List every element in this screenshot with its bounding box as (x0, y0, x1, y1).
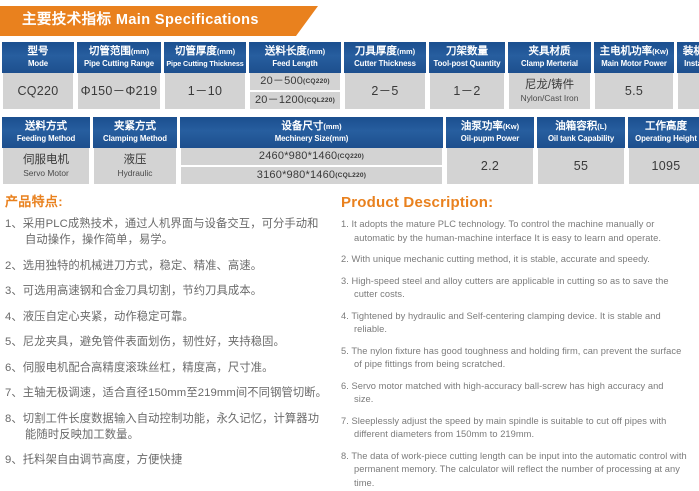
th-operating-height-cn: 工作高度 (629, 120, 699, 133)
cell-main-motor-power: 5.5 (593, 73, 675, 109)
th-clamp-material-cn: 夹具材质 (509, 45, 590, 58)
cell-pipe-cutting-thickness: 1－10 (163, 73, 247, 109)
th-cutter-thickness: 刀具厚度(mm) Cutter Thickness (343, 42, 427, 73)
th-installed-power: 装机功率(Kw) Installed Power (676, 42, 699, 73)
cell-clamp-material-cn: 尼龙/铸件 (510, 78, 589, 93)
feature-line-2: 能随时反映加工数量。 (5, 427, 336, 443)
list-item: 7、主轴无极调速，适合直径150mm至219mm间不同钢管切断。 (5, 385, 336, 401)
th-feed-length: 送料长度(mm) Feed Length (248, 42, 342, 73)
cell-installed-power: 8 (676, 73, 699, 109)
th-model: 型号 Mode (1, 42, 75, 73)
th-feeding-method-cn: 送料方式 (3, 120, 89, 133)
cell-oil-pump-power: 2.2 (445, 148, 535, 184)
cell-feeding-method-cn: 伺服电机 (4, 153, 88, 168)
feature-line-2: permanent memory. The calculator will re… (341, 463, 699, 477)
th-oil-tank-capability-cn: 油箱容积(L) (538, 120, 624, 133)
th-main-motor-power-en: Main Motor Power (595, 58, 673, 69)
feature-line-1: 3. High-speed steel and alloy cutters ar… (341, 276, 669, 286)
cell-machinery-size: 2460*980*1460(CQ220) 3160*980*1460(CQL22… (179, 148, 444, 184)
list-item: 8、切割工件长度数据输入自动控制功能，永久记忆，计算器功能随时反映加工数量。 (5, 411, 336, 443)
description-section: 产品特点: 1、采用PLC成熟技术，通过人机界面与设备交互，可分手动和自动操作，… (0, 184, 699, 491)
feature-line-2: cutter costs. (341, 288, 699, 302)
feed-length-cq220: 20－500(CQ220) (250, 73, 340, 90)
features-heading-en: Product Description: (341, 193, 699, 213)
spec-table-primary: 型号 Mode 切管范围(mm) Pipe Cutting Range 切管厚度… (0, 42, 699, 109)
list-item: 7. Sleeplessly adjust the speed by main … (341, 415, 699, 442)
th-pipe-cutting-range-en: Pipe Cutting Range (78, 58, 160, 69)
th-cutter-thickness-cn: 刀具厚度(mm) (345, 45, 425, 58)
cell-feeding-method-en: Servo Motor (4, 168, 88, 179)
list-item: 3、可选用高速钢和合金刀具切割，节约刀具成本。 (5, 283, 336, 299)
cell-clamp-material-en: Nylon/Cast Iron (510, 93, 589, 104)
th-feeding-method-en: Feeding Method (3, 133, 89, 144)
th-clamping-method-cn: 夹紧方式 (94, 120, 176, 133)
cell-model: CQ220 (1, 73, 75, 109)
feature-line-1: 2. With unique mechanic cutting method, … (341, 254, 650, 264)
table-row: CQ220 Φ150－Φ219 1－10 20－500(CQ220) 20－12… (1, 73, 699, 109)
table-divider (0, 109, 699, 117)
th-machinery-size-en: Mechinery Size(mm) (181, 133, 442, 144)
th-model-cn: 型号 (3, 45, 73, 58)
list-item: 1、采用PLC成熟技术，通过人机界面与设备交互，可分手动和自动操作，操作简单，易… (5, 216, 336, 248)
feature-line-1: 1、采用PLC成熟技术，通过人机界面与设备交互，可分手动和 (5, 218, 319, 230)
feature-line-1: 7. Sleeplessly adjust the speed by main … (341, 416, 666, 426)
cell-cutter-thickness: 2－5 (343, 73, 427, 109)
th-installed-power-cn: 装机功率(Kw) (678, 45, 699, 58)
th-tool-post-quantity-cn: 刀架数量 (430, 45, 504, 58)
feature-line-1: 8. The data of work-piece cutting length… (341, 451, 687, 461)
machinery-size-cql220: 3160*980*1460(CQL220) (181, 167, 442, 184)
th-tool-post-quantity-en: Tool-post Quantity (430, 58, 504, 69)
th-oil-pump-power-en: Oil-pupm Power (447, 133, 533, 144)
th-clamp-material: 夹具材质 Clamp Merterial (507, 42, 592, 73)
feed-length-cql220-sub: (CQL220) (304, 97, 335, 104)
feature-line-1: 6. Servo motor matched with high-accurac… (341, 381, 664, 391)
feature-line-2: different diameters from 150mm to 219mm. (341, 428, 699, 442)
cell-pipe-cutting-range: Φ150－Φ219 (76, 73, 162, 109)
th-feed-length-cn: 送料长度(mm) (250, 45, 340, 58)
th-pipe-cutting-thickness-en: Pipe Cutting Thickness (165, 58, 245, 69)
list-item: 8. The data of work-piece cutting length… (341, 450, 699, 491)
feature-line-1: 2、选用独特的机械进刀方式，稳定、精准、高速。 (5, 260, 262, 272)
th-machinery-size-cn: 设备尺寸(mm) (181, 120, 442, 133)
spec-sheet-page: 主要技术指标 Main Specifications 型号 Mode 切管范围(… (0, 0, 699, 491)
features-column-cn: 产品特点: 1、采用PLC成熟技术，通过人机界面与设备交互，可分手动和自动操作，… (0, 193, 336, 491)
list-item: 6、伺服电机配合高精度滚珠丝杠，精度高，尺寸准。 (5, 360, 336, 376)
features-heading-cn: 产品特点: (5, 193, 336, 211)
feature-line-2: size. (341, 393, 699, 407)
list-item: 4、液压自定心夹紧，动作稳定可靠。 (5, 309, 336, 325)
feed-length-cq220-sub: (CQ220) (303, 78, 330, 85)
banner-title-en: Main Specifications (116, 12, 259, 28)
features-list-cn: 1、采用PLC成熟技术，通过人机界面与设备交互，可分手动和自动操作，操作简单，易… (5, 216, 336, 468)
features-list-en: 1. It adopts the mature PLC technology. … (341, 218, 699, 490)
th-model-en: Mode (3, 58, 73, 69)
feature-line-1: 4. Tightened by hydraulic and Self-cente… (341, 311, 661, 321)
table-header-row: 型号 Mode 切管范围(mm) Pipe Cutting Range 切管厚度… (1, 42, 699, 73)
table-row: 伺服电机 Servo Motor 液压 Hydraulic 2460*980*1… (1, 148, 699, 184)
feature-line-1: 1. It adopts the mature PLC technology. … (341, 219, 654, 229)
th-clamping-method-en: Clamping Method (94, 133, 176, 144)
spec-table-secondary: 送料方式 Feeding Method 夹紧方式 Clamping Method… (0, 117, 699, 184)
feature-line-2: of pipe fittings from being scratched. (341, 358, 699, 372)
th-operating-height-en: Operating Height (629, 133, 699, 144)
feed-length-cql220: 20－1200(CQL220) (250, 92, 340, 109)
th-feed-length-en: Feed Length (250, 58, 340, 69)
th-oil-pump-power: 油泵功率(Kw) Oil-pupm Power (445, 117, 535, 148)
th-clamping-method: 夹紧方式 Clamping Method (92, 117, 178, 148)
cell-tool-post-quantity: 1－2 (428, 73, 506, 109)
list-item: 2、选用独特的机械进刀方式，稳定、精准、高速。 (5, 258, 336, 274)
list-item: 5、尼龙夹具，避免管件表面划伤，韧性好，夹持稳固。 (5, 334, 336, 350)
cell-clamping-method-cn: 液压 (95, 153, 175, 168)
th-oil-tank-capability-en: Oil tank Capability (538, 133, 624, 144)
section-banner: 主要技术指标 Main Specifications (0, 0, 699, 42)
th-pipe-cutting-thickness: 切管厚度(mm) Pipe Cutting Thickness (163, 42, 247, 73)
cell-oil-tank-capability: 55 (536, 148, 626, 184)
list-item: 5. The nylon fixture has good toughness … (341, 345, 699, 372)
th-installed-power-en: Installed Power (678, 58, 699, 69)
table-header-row: 送料方式 Feeding Method 夹紧方式 Clamping Method… (1, 117, 699, 148)
machinery-size-cql220-sub: (CQL220) (335, 172, 366, 179)
feature-line-1: 3、可选用高速钢和合金刀具切割，节约刀具成本。 (5, 285, 262, 297)
machinery-size-cq220: 2460*980*1460(CQ220) (181, 148, 442, 165)
feature-line-2: automatic by the human-machine interface… (341, 232, 699, 246)
machinery-size-cq220-sub: (CQ220) (337, 153, 364, 160)
list-item: 2. With unique mechanic cutting method, … (341, 253, 699, 267)
th-cutter-thickness-en: Cutter Thickness (345, 58, 425, 69)
feature-line-1: 4、液压自定心夹紧，动作稳定可靠。 (5, 311, 194, 323)
cell-clamp-material: 尼龙/铸件 Nylon/Cast Iron (507, 73, 592, 109)
feature-line-1: 7、主轴无极调速，适合直径150mm至219mm间不同钢管切断。 (5, 387, 327, 399)
th-feeding-method: 送料方式 Feeding Method (1, 117, 91, 148)
banner-title-cn: 主要技术指标 (22, 12, 111, 28)
list-item: 9、托料架自由调节高度，方便快捷 (5, 452, 336, 468)
th-clamp-material-en: Clamp Merterial (509, 58, 590, 69)
th-machinery-size: 设备尺寸(mm) Mechinery Size(mm) (179, 117, 444, 148)
cell-feeding-method: 伺服电机 Servo Motor (1, 148, 91, 184)
list-item: 1. It adopts the mature PLC technology. … (341, 218, 699, 245)
cell-clamping-method: 液压 Hydraulic (92, 148, 178, 184)
feature-line-3: time. (341, 477, 699, 491)
th-pipe-cutting-thickness-cn: 切管厚度(mm) (165, 45, 245, 58)
th-tool-post-quantity: 刀架数量 Tool-post Quantity (428, 42, 506, 73)
th-pipe-cutting-range-cn: 切管范围(mm) (78, 45, 160, 58)
th-oil-pump-power-cn: 油泵功率(Kw) (447, 120, 533, 133)
th-oil-tank-capability: 油箱容积(L) Oil tank Capability (536, 117, 626, 148)
list-item: 3. High-speed steel and alloy cutters ar… (341, 275, 699, 302)
features-column-en: Product Description: 1. It adopts the ma… (336, 193, 699, 491)
feature-line-1: 6、伺服电机配合高精度滚珠丝杠，精度高，尺寸准。 (5, 362, 274, 374)
cell-operating-height: 1095 (627, 148, 699, 184)
banner-title: 主要技术指标 Main Specifications (22, 10, 259, 31)
cell-clamping-method-en: Hydraulic (95, 168, 175, 179)
list-item: 6. Servo motor matched with high-accurac… (341, 380, 699, 407)
feature-line-2: 自动操作，操作简单，易学。 (5, 232, 336, 248)
feature-line-1: 5、尼龙夹具，避免管件表面划伤，韧性好，夹持稳固。 (5, 336, 285, 348)
th-main-motor-power-cn: 主电机功率(Kw) (595, 45, 673, 58)
feature-line-1: 8、切割工件长度数据输入自动控制功能，永久记忆，计算器功 (5, 413, 319, 425)
feature-line-1: 9、托料架自由调节高度，方便快捷 (5, 454, 182, 466)
th-main-motor-power: 主电机功率(Kw) Main Motor Power (593, 42, 675, 73)
th-pipe-cutting-range: 切管范围(mm) Pipe Cutting Range (76, 42, 162, 73)
feature-line-2: reliable. (341, 323, 699, 337)
cell-feed-length: 20－500(CQ220) 20－1200(CQL220) (248, 73, 342, 109)
feature-line-1: 5. The nylon fixture has good toughness … (341, 346, 681, 356)
th-operating-height: 工作高度 Operating Height (627, 117, 699, 148)
list-item: 4. Tightened by hydraulic and Self-cente… (341, 310, 699, 337)
